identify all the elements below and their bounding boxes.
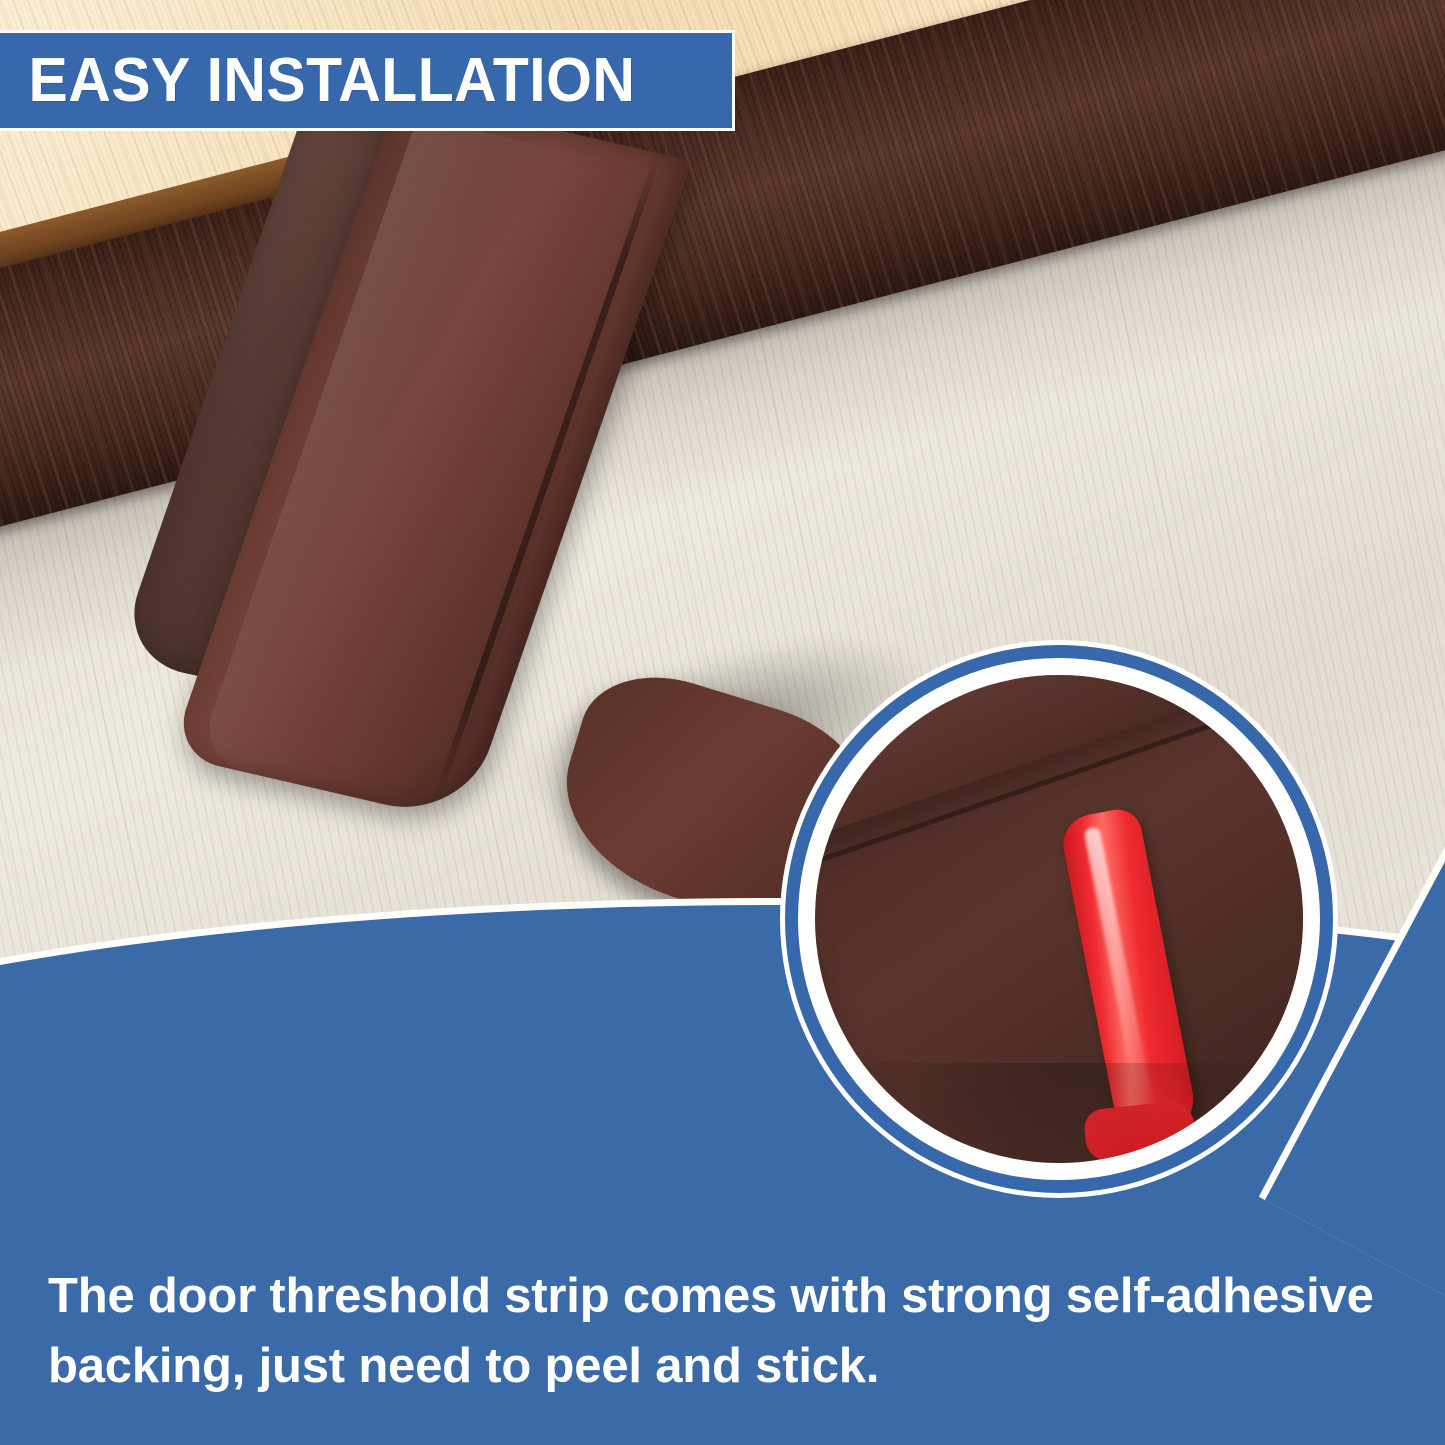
inset-photo [815, 675, 1303, 1163]
peel-and-stick-inset [785, 645, 1333, 1193]
threshold-strip-product [265, 135, 885, 875]
header-banner: EASY INSTALLATION [0, 30, 735, 131]
inset-bottom-shadow [815, 1063, 1303, 1163]
product-infographic: EASY INSTALLATION The door threshold str… [0, 0, 1445, 1445]
banner-title: EASY INSTALLATION [0, 50, 635, 112]
inset-white-ring [798, 658, 1320, 1180]
caption-text: The door threshold strip comes with stro… [48, 1262, 1408, 1401]
